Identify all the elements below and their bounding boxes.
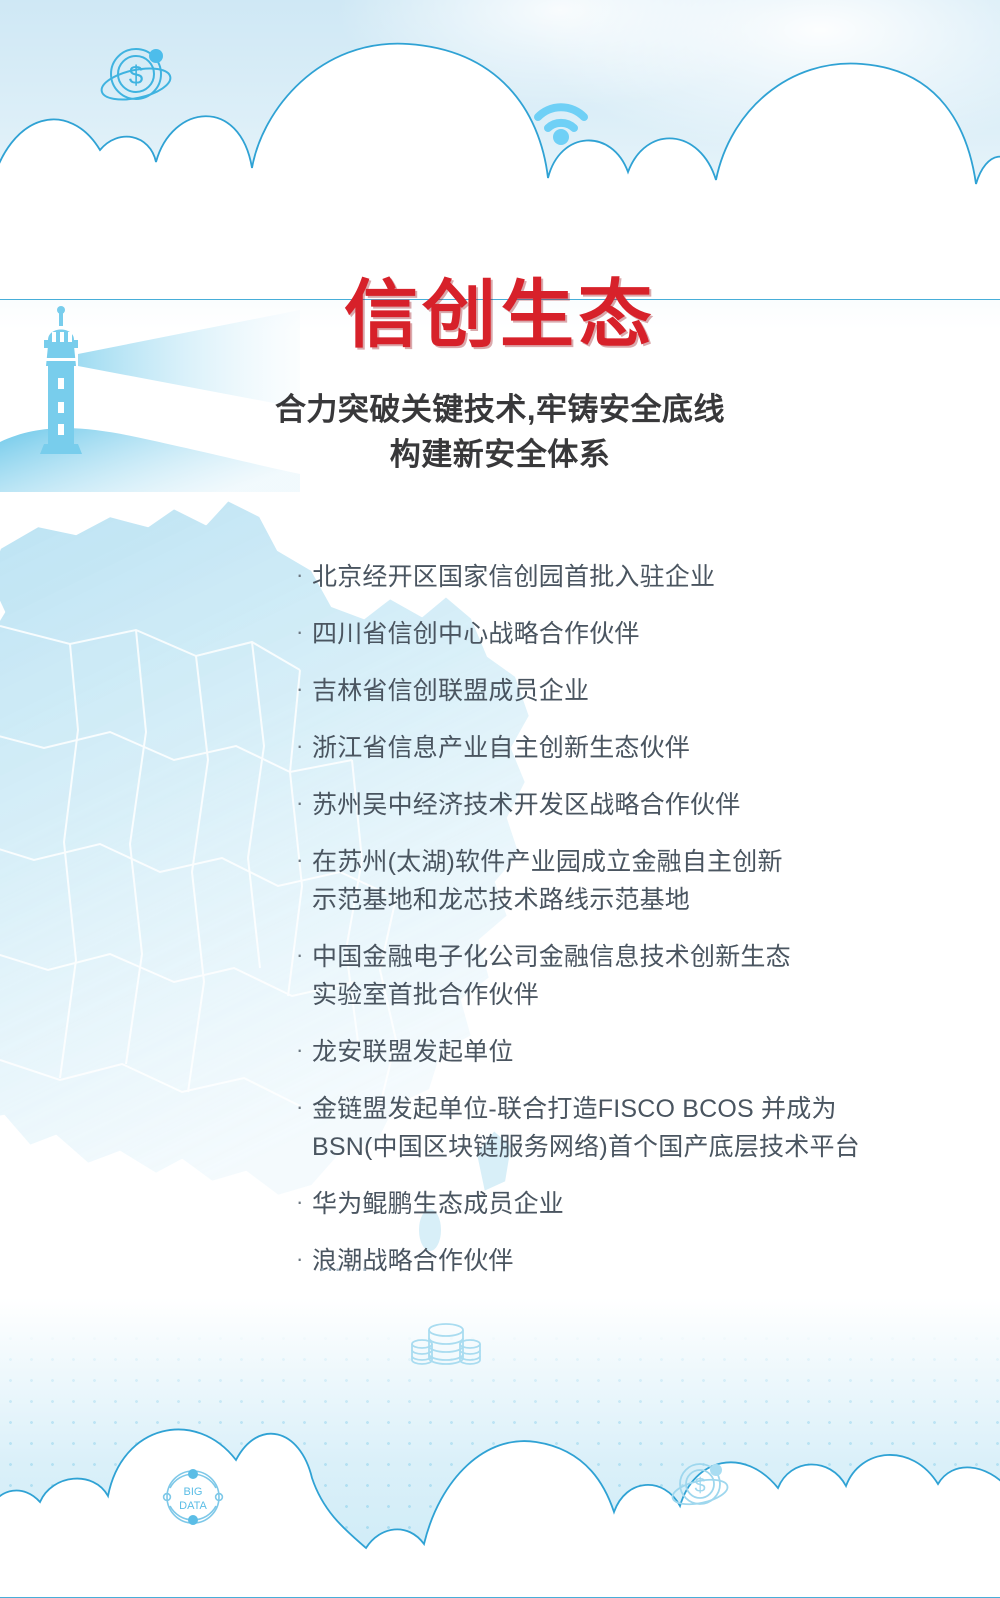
list-item-text: 浙江省信息产业自主创新生态伙伴 <box>312 729 926 767</box>
poster-canvas: $ <box>0 0 1000 1598</box>
bullet-dot-icon: · <box>296 1185 312 1218</box>
list-item-line: BSN(中国区块链服务网络)首个国产底层技术平台 <box>312 1128 926 1166</box>
list-item-text: 浪潮战略合作伙伴 <box>312 1242 926 1280</box>
bullet-dot-icon: · <box>296 558 312 591</box>
list-item-line: 苏州吴中经济技术开发区战略合作伙伴 <box>312 786 926 824</box>
bullet-dot-icon: · <box>296 786 312 819</box>
big-data-label-line2: DATA <box>179 1500 207 1512</box>
coin-dollar-symbol: $ <box>694 1475 705 1497</box>
subtitle-line-2: 构建新安全体系 <box>0 433 1000 478</box>
big-data-icon: BIG DATA <box>158 1462 228 1532</box>
list-item-text: 华为鲲鹏生态成员企业 <box>312 1185 926 1223</box>
more-ellipsis: …… <box>318 1250 372 1278</box>
bullet-dot-icon: · <box>296 938 312 971</box>
achievement-list: ·北京经开区国家信创园首批入驻企业·四川省信创中心战略合作伙伴·吉林省信创联盟成… <box>296 558 926 1299</box>
list-item-line: 龙安联盟发起单位 <box>312 1033 926 1071</box>
list-item: ·金链盟发起单位-联合打造FISCO BCOS 并成为BSN(中国区块链服务网络… <box>296 1090 926 1166</box>
big-data-label-line1: BIG <box>184 1486 203 1498</box>
big-data-circle-icon: BIG DATA <box>158 1462 228 1532</box>
bullet-dot-icon: · <box>296 1242 312 1275</box>
list-item: ·龙安联盟发起单位 <box>296 1033 926 1071</box>
list-item: ·浪潮战略合作伙伴 <box>296 1242 926 1280</box>
dollar-coin-orbit-icon-bottom: $ <box>666 1456 738 1518</box>
bullet-dot-icon: · <box>296 615 312 648</box>
dollar-coin-icon: $ <box>92 38 184 118</box>
list-item-text: 龙安联盟发起单位 <box>312 1033 926 1071</box>
bullet-dot-icon: · <box>296 729 312 762</box>
page-title: 信创生态 <box>0 278 1000 352</box>
list-item-text: 在苏州(太湖)软件产业园成立金融自主创新示范基地和龙芯技术路线示范基地 <box>312 843 926 919</box>
list-item-text: 苏州吴中经济技术开发区战略合作伙伴 <box>312 786 926 824</box>
list-item: ·华为鲲鹏生态成员企业 <box>296 1185 926 1223</box>
wifi-signal-icon <box>530 95 592 145</box>
bottom-dot-texture <box>0 1328 1000 1598</box>
list-item: ·在苏州(太湖)软件产业园成立金融自主创新示范基地和龙芯技术路线示范基地 <box>296 843 926 919</box>
list-item-text: 四川省信创中心战略合作伙伴 <box>312 615 926 653</box>
page-subtitle: 合力突破关键技术,牢铸安全底线 构建新安全体系 <box>0 388 1000 478</box>
bullet-dot-icon: · <box>296 1090 312 1123</box>
list-item-line: 北京经开区国家信创园首批入驻企业 <box>312 558 926 596</box>
bullet-dot-icon: · <box>296 1033 312 1066</box>
list-item-text: 中国金融电子化公司金融信息技术创新生态实验室首批合作伙伴 <box>312 938 926 1014</box>
subtitle-line-1: 合力突破关键技术,牢铸安全底线 <box>0 388 1000 433</box>
list-item: ·中国金融电子化公司金融信息技术创新生态实验室首批合作伙伴 <box>296 938 926 1014</box>
list-item-line: 中国金融电子化公司金融信息技术创新生态 <box>312 938 926 976</box>
list-item-line: 在苏州(太湖)软件产业园成立金融自主创新 <box>312 843 926 881</box>
coin-stack-icon <box>410 1310 482 1372</box>
list-item-line: 金链盟发起单位-联合打造FISCO BCOS 并成为 <box>312 1090 926 1128</box>
list-item-line: 浙江省信息产业自主创新生态伙伴 <box>312 729 926 767</box>
list-item: ·浙江省信息产业自主创新生态伙伴 <box>296 729 926 767</box>
list-item: ·苏州吴中经济技术开发区战略合作伙伴 <box>296 786 926 824</box>
list-item: ·吉林省信创联盟成员企业 <box>296 672 926 710</box>
list-item-line: 华为鲲鹏生态成员企业 <box>312 1185 926 1223</box>
coin-dollar-symbol: $ <box>129 60 144 90</box>
list-item-line: 实验室首批合作伙伴 <box>312 976 926 1014</box>
list-item-text: 北京经开区国家信创园首批入驻企业 <box>312 558 926 596</box>
database-stack-icon <box>410 1310 482 1372</box>
bullet-dot-icon: · <box>296 672 312 705</box>
list-item-line: 浪潮战略合作伙伴 <box>312 1242 926 1280</box>
list-item-text: 吉林省信创联盟成员企业 <box>312 672 926 710</box>
list-item: ·北京经开区国家信创园首批入驻企业 <box>296 558 926 596</box>
dollar-coin-icon: $ <box>666 1456 738 1518</box>
list-item-line: 吉林省信创联盟成员企业 <box>312 672 926 710</box>
dollar-coin-orbit-icon-top: $ <box>92 38 184 118</box>
list-item-line: 四川省信创中心战略合作伙伴 <box>312 615 926 653</box>
list-item: ·四川省信创中心战略合作伙伴 <box>296 615 926 653</box>
list-item-text: 金链盟发起单位-联合打造FISCO BCOS 并成为BSN(中国区块链服务网络)… <box>312 1090 926 1166</box>
bullet-dot-icon: · <box>296 843 312 876</box>
list-item-line: 示范基地和龙芯技术路线示范基地 <box>312 881 926 919</box>
wifi-icon <box>530 95 592 145</box>
